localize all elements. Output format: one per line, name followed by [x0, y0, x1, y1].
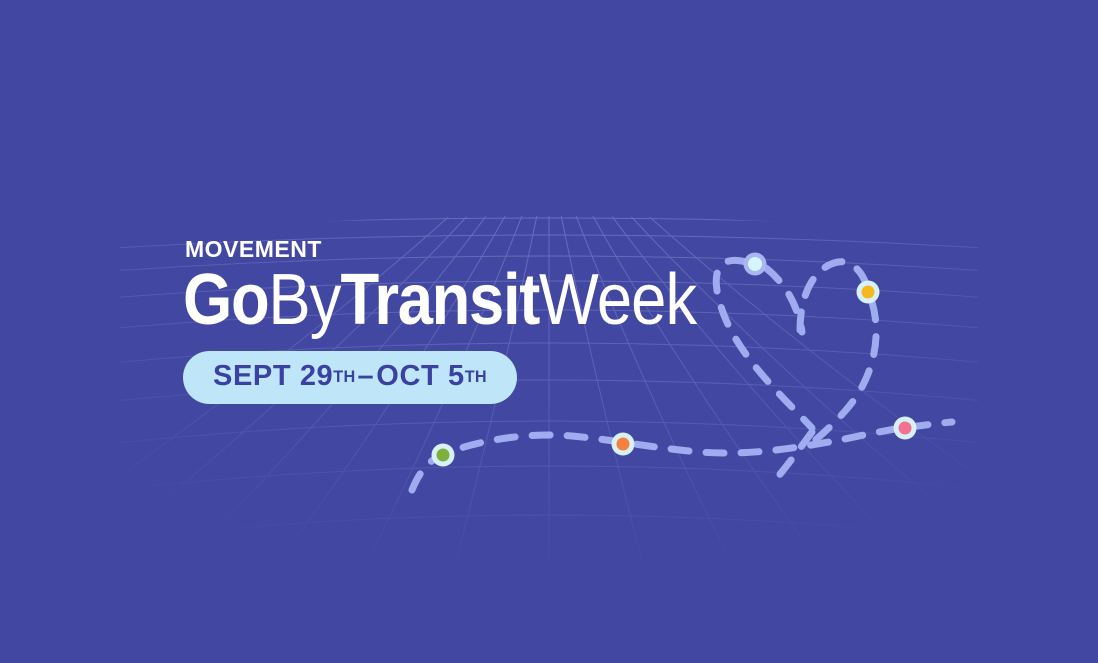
title-part-go: Go	[183, 260, 268, 340]
date-range-badge: SEPT 29TH–OCT 5TH	[183, 351, 517, 404]
poster-canvas: MOVEMENT GoByTransitWeek SEPT 29TH–OCT 5…	[0, 0, 1098, 663]
page-title: GoByTransitWeek	[183, 267, 729, 333]
title-part-by: By	[268, 260, 340, 340]
route-heart-right-top	[800, 262, 866, 330]
route-heart-tail	[770, 432, 812, 486]
badge-start-month: SEPT	[213, 362, 291, 391]
brand-wordmark: MOVEMENT	[185, 236, 322, 262]
stop-green	[432, 444, 455, 467]
poster-text-block: MOVEMENT GoByTransitWeek SEPT 29TH–OCT 5…	[183, 238, 803, 404]
route-heart-right	[806, 302, 876, 448]
badge-start-day: 29	[300, 362, 333, 391]
route-main-line	[412, 428, 902, 490]
route-main-line-right	[910, 422, 952, 427]
stop-yellow	[857, 281, 880, 304]
title-part-week: Week	[539, 260, 696, 340]
movement-logo: MOVEMENT	[185, 238, 322, 261]
stop-pink	[894, 417, 917, 440]
title-part-transit: Transit	[341, 260, 540, 340]
badge-end-month: OCT	[376, 362, 439, 391]
badge-end-day: 5	[448, 362, 465, 391]
stop-orange	[612, 433, 635, 456]
badge-separator: –	[356, 362, 377, 391]
